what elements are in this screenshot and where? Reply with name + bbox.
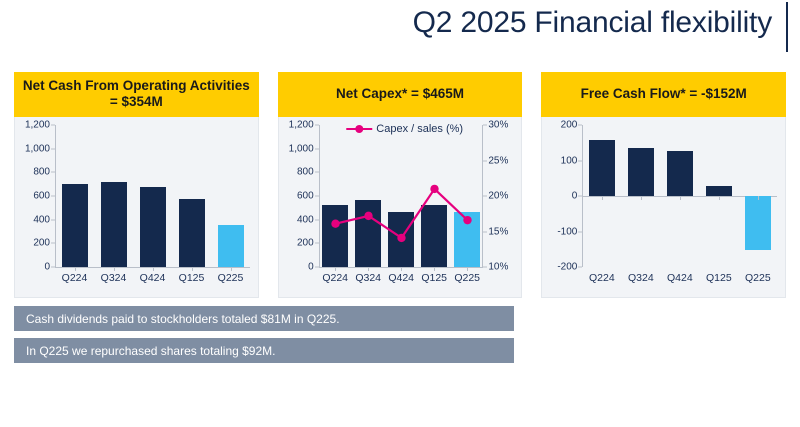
- x-tick-label-Q225: Q225: [454, 272, 480, 284]
- panel-body-net-cash-operating: 02004006008001,0001,200Q224Q324Q424Q125Q…: [14, 117, 259, 298]
- panel-header-net-cash-operating: Net Cash From Operating Activities = $35…: [14, 72, 259, 117]
- legend-label: Capex / sales (%): [376, 123, 463, 135]
- y-tick-label: 0: [572, 191, 578, 202]
- x-tick-label-Q424: Q424: [667, 272, 693, 284]
- secondary-y-tick-label: 10%: [488, 262, 508, 273]
- slide-root: Q2 2025 Financial flexibility Net Cash F…: [0, 0, 800, 427]
- secondary-y-tick-mark: [483, 125, 487, 126]
- x-tick-mark: [335, 267, 336, 271]
- secondary-y-tick-label: 20%: [488, 191, 508, 202]
- charts-row: Net Cash From Operating Activities = $35…: [14, 72, 786, 298]
- legend-marker-icon: [346, 124, 372, 134]
- x-tick-mark: [434, 267, 435, 271]
- y-tick-mark: [51, 243, 55, 244]
- bar-Q424: [140, 187, 166, 267]
- y-tick-mark: [51, 196, 55, 197]
- x-tick-mark: [368, 267, 369, 271]
- line-point-Q224: [331, 219, 339, 227]
- y-tick-label: 1,000: [25, 143, 50, 154]
- panel-free-cash-flow: Free Cash Flow* = -$152M -200-1000100200…: [541, 72, 786, 298]
- line-point-Q424: [397, 234, 405, 242]
- panel-net-cash-operating: Net Cash From Operating Activities = $35…: [14, 72, 259, 298]
- secondary-y-tick-mark: [483, 160, 487, 161]
- chart-net-capex: 02004006008001,0001,20010%15%20%25%30%Q2…: [279, 117, 522, 297]
- y-tick-label: 800: [33, 167, 50, 178]
- secondary-y-tick-label: 15%: [488, 226, 508, 237]
- x-tick-mark: [467, 267, 468, 271]
- y-tick-label: 600: [33, 191, 50, 202]
- x-tick-label-Q324: Q324: [101, 272, 127, 284]
- x-tick-mark: [75, 267, 76, 271]
- bar-Q324: [628, 148, 654, 196]
- bar-Q225: [218, 225, 244, 267]
- chart-legend: Capex / sales (%): [346, 123, 463, 135]
- y-tick-label: 400: [33, 214, 50, 225]
- plot-area: -200-1000100200Q224Q324Q424Q125Q225: [582, 125, 777, 267]
- statement-dividends: Cash dividends paid to stockholders tota…: [14, 306, 514, 331]
- slide-header: Q2 2025 Financial flexibility: [0, 0, 800, 58]
- secondary-y-tick-mark: [483, 267, 487, 268]
- secondary-y-tick-label: 25%: [488, 155, 508, 166]
- x-tick-label-Q224: Q224: [62, 272, 88, 284]
- capex-sales-line-series: [319, 125, 484, 267]
- y-tick-label: 1,200: [25, 120, 50, 131]
- y-tick-label: -100: [557, 226, 577, 237]
- y-tick-mark: [578, 267, 582, 268]
- y-tick-label: 0: [308, 262, 314, 273]
- x-tick-mark: [231, 267, 232, 271]
- y-tick-label: 1,000: [289, 143, 314, 154]
- panel-header-free-cash-flow: Free Cash Flow* = -$152M: [541, 72, 786, 117]
- x-tick-label-Q424: Q424: [388, 272, 414, 284]
- y-tick-mark: [51, 219, 55, 220]
- y-tick-label: 0: [44, 262, 50, 273]
- y-tick-mark: [51, 148, 55, 149]
- panel-header-net-capex: Net Capex* = $465M: [278, 72, 523, 117]
- x-tick-mark: [153, 267, 154, 271]
- x-tick-mark: [192, 267, 193, 271]
- x-tick-label-Q324: Q324: [628, 272, 654, 284]
- bar-Q224: [589, 140, 615, 196]
- x-tick-mark: [602, 196, 603, 200]
- y-tick-label: 400: [297, 214, 314, 225]
- bar-Q225: [745, 196, 771, 250]
- x-tick-label-Q324: Q324: [355, 272, 381, 284]
- y-tick-mark: [51, 125, 55, 126]
- y-tick-mark: [578, 125, 582, 126]
- y-tick-label: 600: [297, 191, 314, 202]
- y-tick-label: 200: [297, 238, 314, 249]
- y-tick-mark: [578, 231, 582, 232]
- bar-Q324: [101, 182, 127, 267]
- y-tick-label: 200: [33, 238, 50, 249]
- x-tick-label-Q225: Q225: [218, 272, 244, 284]
- x-tick-mark: [641, 196, 642, 200]
- statement-buyback: In Q225 we repurchased shares totaling $…: [14, 338, 514, 363]
- line-point-Q225: [463, 216, 471, 224]
- bar-Q125: [179, 199, 205, 267]
- secondary-y-tick-mark: [483, 231, 487, 232]
- x-tick-mark: [758, 196, 759, 200]
- chart-free-cash-flow: -200-1000100200Q224Q324Q424Q125Q225: [542, 117, 785, 297]
- y-tick-label: 1,200: [289, 120, 314, 131]
- panel-body-net-capex: 02004006008001,0001,20010%15%20%25%30%Q2…: [278, 117, 523, 298]
- secondary-y-tick-label: 30%: [488, 120, 508, 131]
- y-axis-line: [55, 125, 56, 267]
- x-tick-mark: [401, 267, 402, 271]
- line-point-Q324: [364, 212, 372, 220]
- x-tick-mark: [680, 196, 681, 200]
- x-tick-label-Q125: Q125: [706, 272, 732, 284]
- panel-net-capex: Net Capex* = $465M 02004006008001,0001,2…: [278, 72, 523, 298]
- y-tick-mark: [51, 172, 55, 173]
- bar-Q125: [706, 186, 732, 196]
- title-rule-divider: [786, 2, 788, 52]
- bar-Q424: [667, 151, 693, 196]
- x-tick-mark: [719, 196, 720, 200]
- x-tick-label-Q125: Q125: [179, 272, 205, 284]
- chart-net-cash-operating: 02004006008001,0001,200Q224Q324Q424Q125Q…: [15, 117, 258, 297]
- x-tick-label-Q125: Q125: [421, 272, 447, 284]
- slide-footer: *Non-U.S. GAAP measure. See Appendix for…: [0, 392, 800, 427]
- y-tick-label: 200: [561, 120, 578, 131]
- plot-area: 02004006008001,0001,200Q224Q324Q424Q125Q…: [55, 125, 250, 267]
- line-point-Q125: [430, 185, 438, 193]
- bar-Q224: [62, 184, 88, 267]
- page-title: Q2 2025 Financial flexibility: [413, 6, 772, 40]
- secondary-y-tick-mark: [483, 196, 487, 197]
- y-tick-label: 800: [297, 167, 314, 178]
- x-tick-label-Q224: Q224: [322, 272, 348, 284]
- plot-area: 02004006008001,0001,20010%15%20%25%30%Q2…: [319, 125, 484, 267]
- panel-body-free-cash-flow: -200-1000100200Q224Q324Q424Q125Q225: [541, 117, 786, 298]
- x-tick-label-Q424: Q424: [140, 272, 166, 284]
- x-tick-label-Q225: Q225: [745, 272, 771, 284]
- y-tick-label: -200: [557, 262, 577, 273]
- x-tick-label-Q224: Q224: [589, 272, 615, 284]
- x-tick-mark: [114, 267, 115, 271]
- y-tick-label: 100: [561, 155, 578, 166]
- y-tick-mark: [578, 160, 582, 161]
